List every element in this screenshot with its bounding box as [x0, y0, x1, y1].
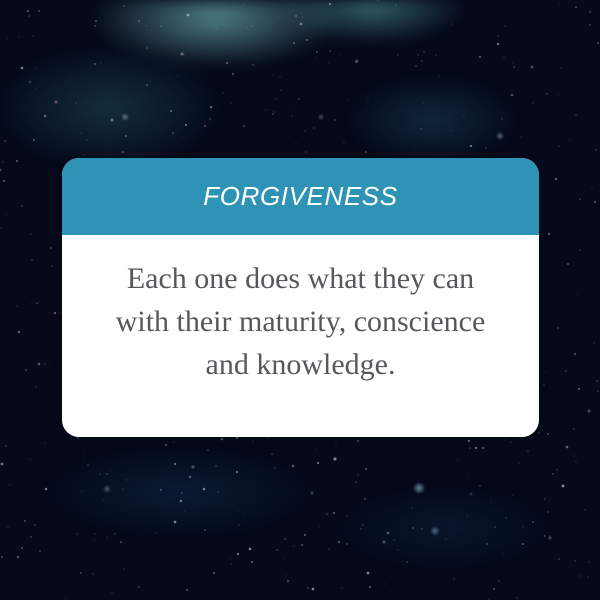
quote-card-body: Each one does what they can with their m…	[62, 235, 539, 437]
quote-card-image: FORGIVENESS Each one does what they can …	[0, 0, 600, 600]
quote-text: Each one does what they can with their m…	[116, 257, 486, 386]
page-title: FORGIVENESS	[203, 181, 397, 212]
quote-card-header: FORGIVENESS	[62, 158, 539, 235]
quote-card: FORGIVENESS Each one does what they can …	[62, 158, 539, 437]
